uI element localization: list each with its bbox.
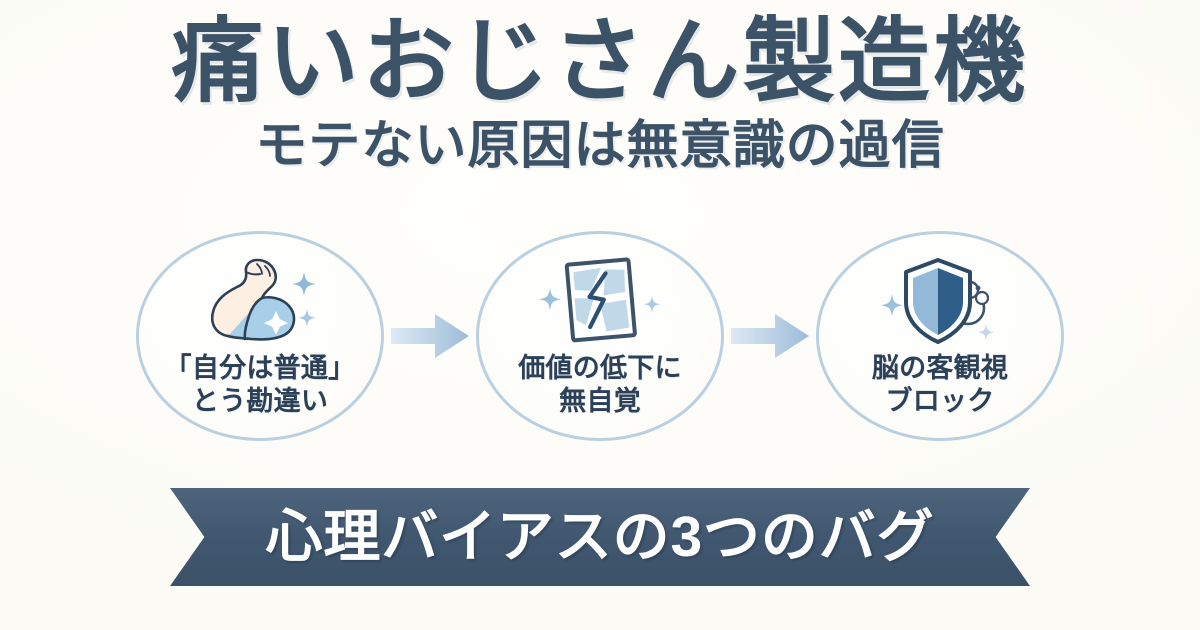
flow-node-3-line1: 脳の客観視: [872, 353, 1008, 383]
flow-node-2-label: 価値の低下に 無自覚: [518, 352, 682, 419]
bottom-ribbon: 心理バイアスの3つのバグ: [0, 487, 1200, 587]
flow-node-3: 脳の客観視 ブロック: [816, 231, 1064, 441]
ribbon-label: 心理バイアスの3つのバグ: [266, 509, 935, 566]
flow-node-2: 価値の低下に 無自覚: [476, 231, 724, 441]
flow-arrow-1: [384, 301, 476, 371]
header: 痛いおじさん製造機 モテない原因は無意識の過信: [0, 14, 1200, 175]
flow-diagram: 「自分は普通」 とう勘違い: [0, 228, 1200, 443]
flow-node-1-label: 「自分は普通」 とう勘違い: [165, 352, 356, 419]
shield-brain-icon: [874, 254, 1006, 350]
flow-node-3-line2: ブロック: [872, 385, 1008, 418]
flexed-bicep-icon: [194, 254, 326, 350]
flow-node-2-line2: 無自覚: [518, 385, 682, 418]
page-title: 痛いおじさん製造機: [0, 14, 1200, 112]
flow-arrow-2: [724, 301, 816, 371]
page-subtitle: モテない原因は無意識の過信: [0, 118, 1200, 175]
flow-node-3-label: 脳の客観視 ブロック: [872, 352, 1008, 419]
flow-node-2-line1: 価値の低下に: [518, 353, 682, 383]
poster-canvas: 痛いおじさん製造機 モテない原因は無意識の過信: [0, 0, 1200, 630]
cracked-mirror-icon: [534, 254, 666, 350]
flow-node-1-line2: とう勘違い: [165, 385, 356, 418]
ribbon-shape: 心理バイアスの3つのバグ: [170, 488, 1030, 586]
flow-node-1: 「自分は普通」 とう勘違い: [136, 231, 384, 441]
flow-node-1-line1: 「自分は普通」: [165, 353, 356, 383]
